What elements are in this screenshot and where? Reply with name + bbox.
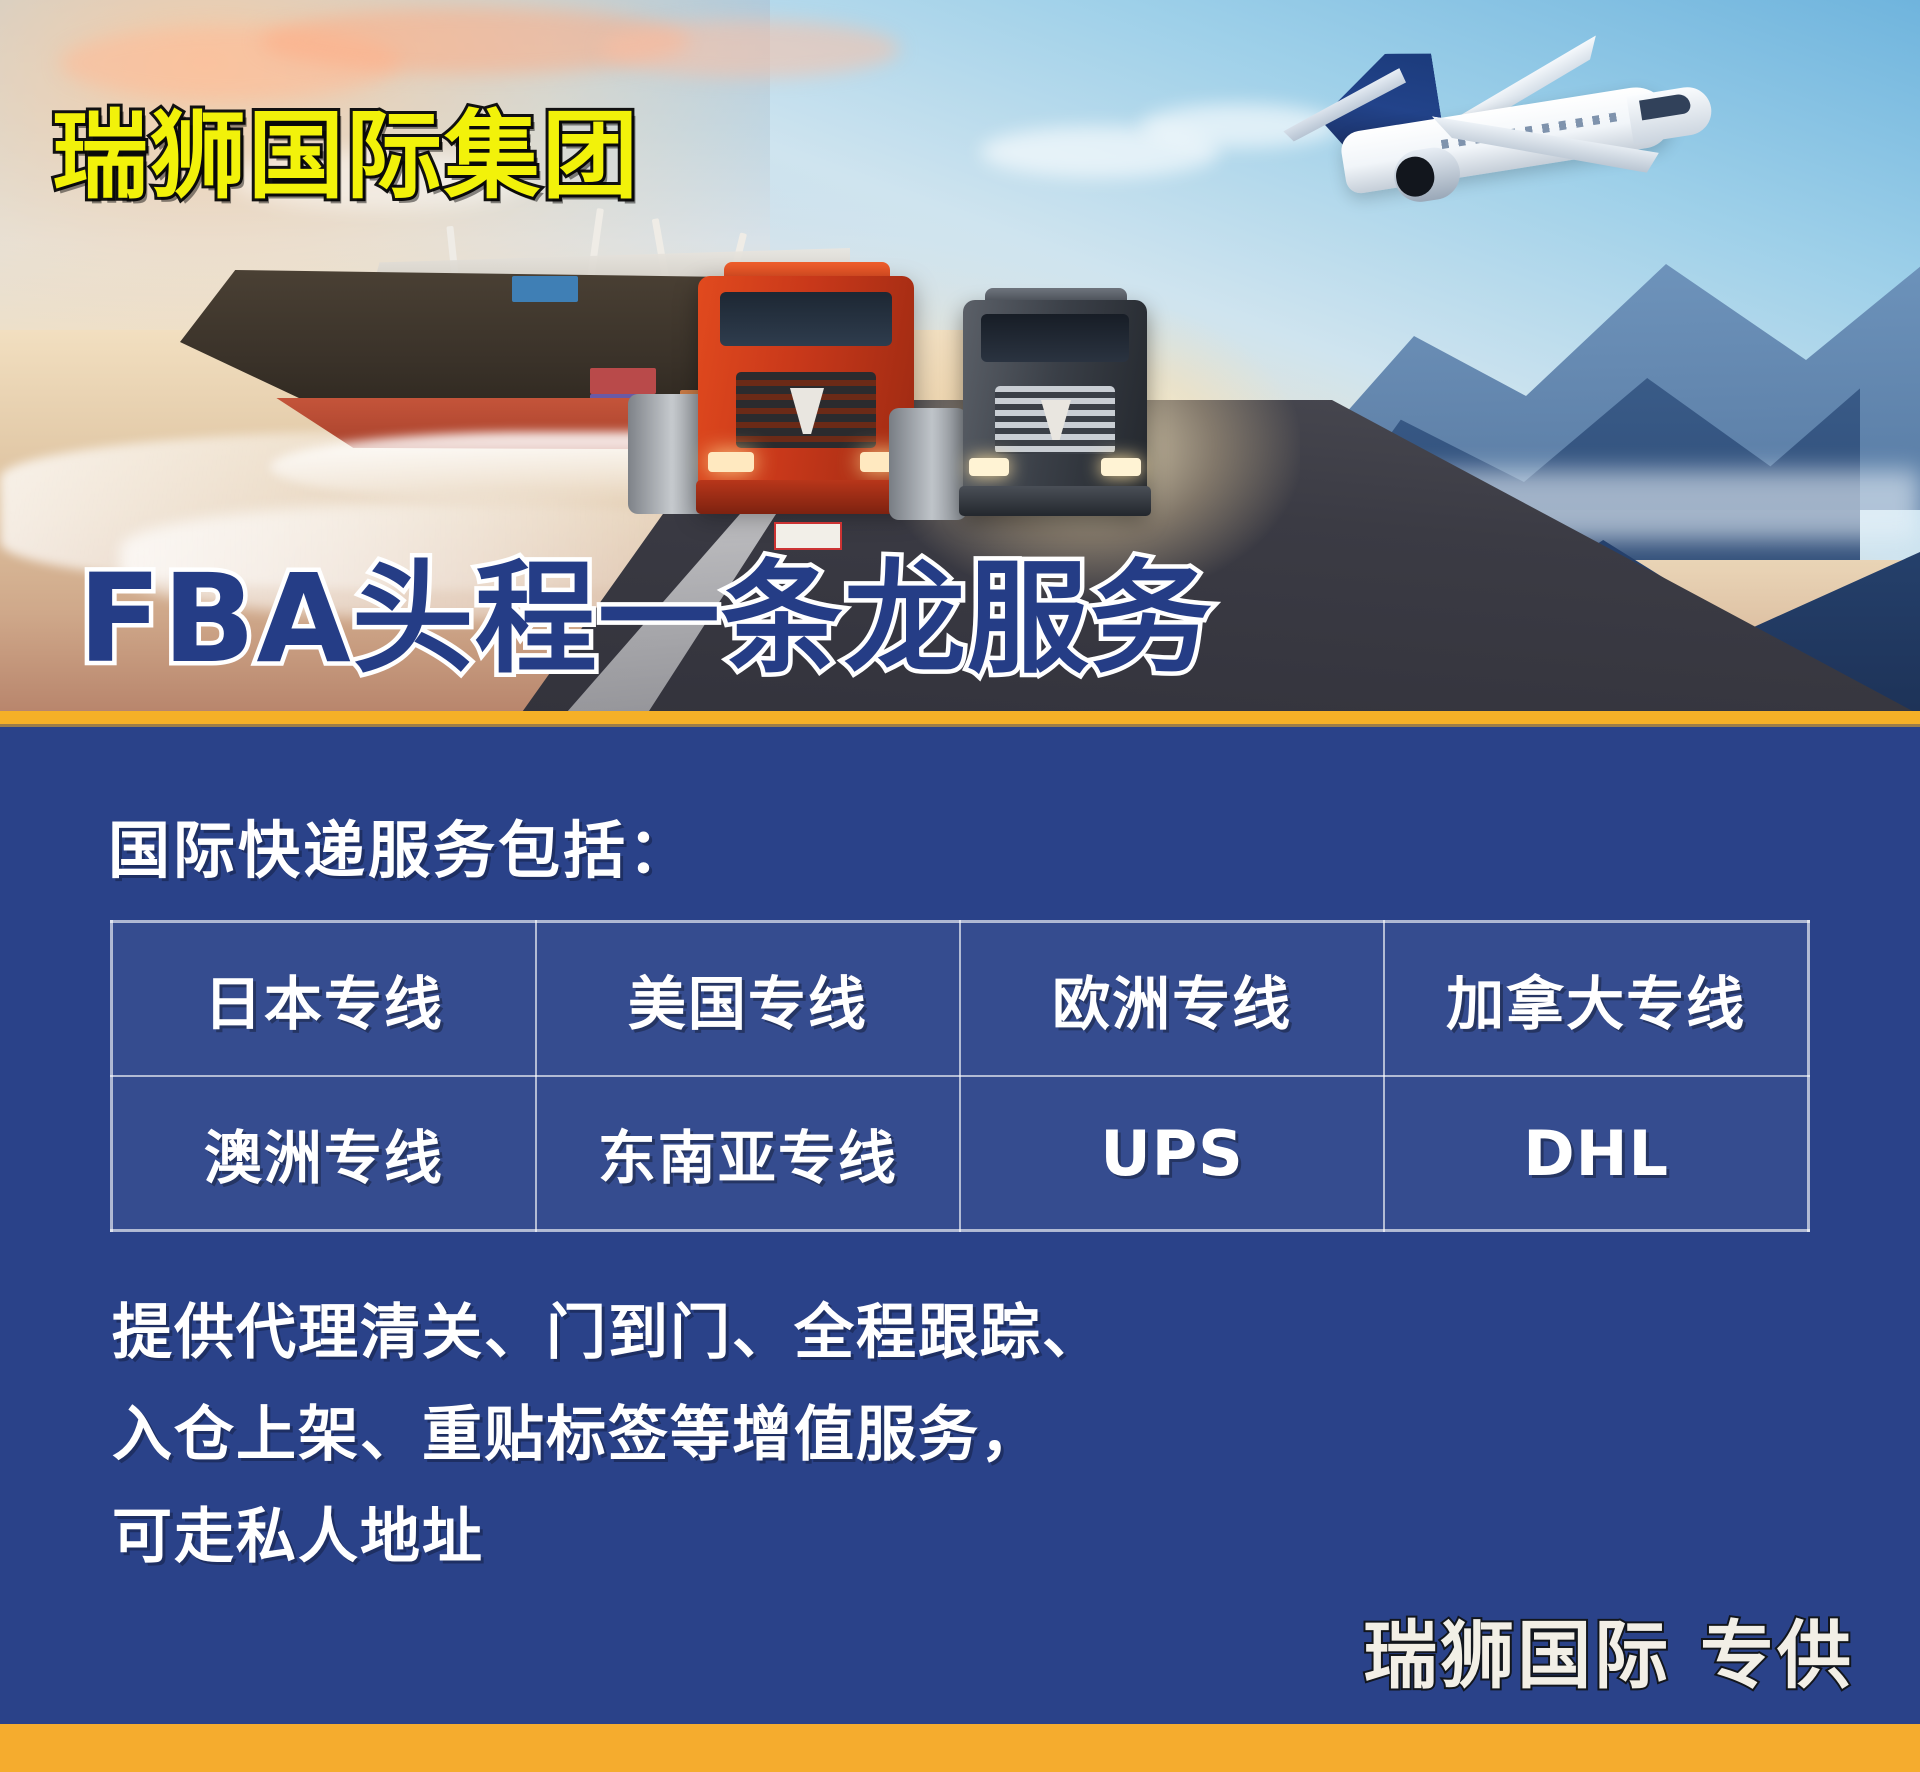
service-cell-australia[interactable]: 澳洲专线 (112, 1076, 536, 1231)
service-cell-usa[interactable]: 美国专线 (536, 922, 960, 1077)
shipping-container (590, 368, 656, 394)
section-title: 国际快递服务包括： (108, 800, 693, 890)
services-description: 提供代理清关、门到门、全程跟踪、 入仓上架、重贴标签等增值服务， 可走私人地址 (112, 1282, 1104, 1588)
table-row: 日本专线 美国专线 欧洲专线 加拿大专线 (112, 922, 1809, 1077)
company-logo-text: 瑞狮国际集团 (52, 78, 640, 217)
service-cell-canada[interactable]: 加拿大专线 (1384, 922, 1808, 1077)
service-cell-ups[interactable]: UPS (960, 1076, 1384, 1231)
description-line-3: 可走私人地址 (112, 1486, 1104, 1588)
truck-windshield (720, 292, 892, 346)
truck-tanker-trailer (889, 408, 967, 520)
shipping-container (512, 276, 578, 302)
services-table: 日本专线 美国专线 欧洲专线 加拿大专线 澳洲专线 东南亚专线 UPS DHL (110, 920, 1810, 1232)
orange-divider-shadow (0, 724, 1920, 727)
service-cell-southeast-asia[interactable]: 东南亚专线 (536, 1076, 960, 1231)
service-cell-europe[interactable]: 欧洲专线 (960, 922, 1384, 1077)
cloud-shape (600, 20, 900, 78)
bottom-orange-bar (0, 1724, 1920, 1772)
poster-root: 瑞狮国际集团 FBA头程一条龙服务 国际快递服务包括： 日本专线 美国专线 欧洲… (0, 0, 1920, 1772)
service-cell-dhl[interactable]: DHL (1384, 1076, 1808, 1231)
truck-headlight (708, 452, 754, 472)
service-cell-japan[interactable]: 日本专线 (112, 922, 536, 1077)
description-line-2: 入仓上架、重贴标签等增值服务， (112, 1384, 1104, 1486)
truck-headlight (1101, 458, 1141, 476)
truck-windshield (981, 314, 1129, 362)
description-line-1: 提供代理清关、门到门、全程跟踪、 (112, 1282, 1104, 1384)
truck-bumper (959, 486, 1151, 516)
truck-headlight (969, 458, 1009, 476)
footer-tagline: 瑞狮国际 专供 (1363, 1596, 1854, 1703)
truck-bumper (696, 480, 916, 514)
table-row: 澳洲专线 东南亚专线 UPS DHL (112, 1076, 1809, 1231)
orange-divider-bar (0, 711, 1920, 724)
hero-headline: FBA头程一条龙服务 (78, 520, 1213, 697)
